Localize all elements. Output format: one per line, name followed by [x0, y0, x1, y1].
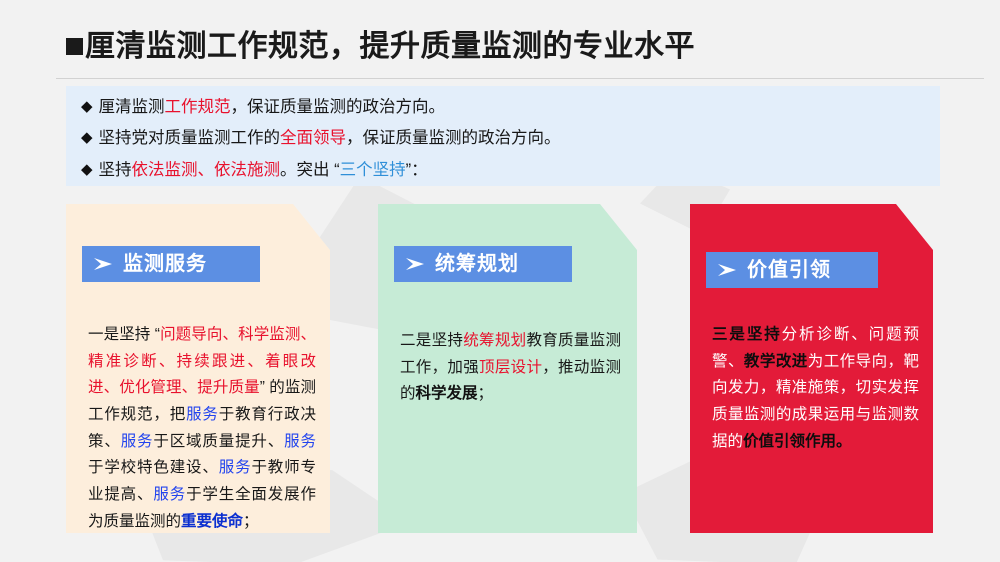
bullet-3-seg-2: 依法监测、依法施测 — [132, 161, 281, 179]
c1-t5: 于学校特色建设、 — [88, 459, 219, 476]
c1-b5: 服务 — [153, 486, 186, 503]
bullet-1-seg-1: 厘清监测 — [99, 98, 165, 116]
title-square-bullet-icon — [66, 38, 83, 55]
card-inner: 监测服务 一是坚持 “问题导向、科学监测、精准诊断、持续跟进、着眼改进、优化管理… — [66, 204, 330, 533]
card-2-header-chip: 统筹规划 — [394, 246, 572, 282]
card-3-header-label: 价值引领 — [747, 260, 831, 280]
card-1-header-chip: 监测服务 — [82, 246, 260, 282]
card-inner: 价值引领 三是坚持分析诊断、问题预警、教学改进为工作导向，靶向发力，精准施策，切… — [690, 204, 933, 533]
chevron-right-icon — [92, 256, 114, 272]
card-inner: 统筹规划 二是坚持统筹规划教育质量监测工作，加强顶层设计，推动监测的科学发展； — [378, 204, 637, 533]
card-3-header-chip: 价值引领 — [706, 252, 878, 288]
page-title-text: 厘清监测工作规范，提升质量监测的专业水平 — [85, 30, 695, 63]
c1-t1: 一是坚持 “ — [88, 326, 160, 343]
c3-k2: 教学改进 — [744, 353, 808, 370]
bullet-3-seg-1: 坚持 — [99, 161, 132, 179]
c1-t4: 于区域质量提升、 — [153, 433, 284, 450]
c2-t4: ； — [478, 385, 494, 402]
bullet-item-2: ◆坚持党对质量监测工作的全面领导，保证质量监测的政治方向。 — [81, 130, 561, 147]
content-card-value-guidance: 价值引领 三是坚持分析诊断、问题预警、教学改进为工作导向，靶向发力，精准施策，切… — [690, 204, 933, 533]
c2-r1: 统筹规划 — [463, 332, 526, 349]
bullet-2-seg-3: ，保证质量监测的政治方向。 — [346, 129, 561, 147]
bullet-3-seg-5: ”： — [406, 161, 428, 179]
diamond-bullet-icon: ◆ — [81, 99, 93, 114]
title-divider — [56, 78, 984, 79]
c2-r2: 顶层设计 — [479, 359, 542, 376]
bullet-1-seg-3: ，保证质量监测的政治方向。 — [231, 98, 446, 116]
bullet-2-seg-1: 坚持党对质量监测工作的 — [99, 129, 281, 147]
bullet-2-seg-2: 全面领导 — [280, 129, 346, 147]
card-1-body: 一是坚持 “问题导向、科学监测、精准诊断、持续跟进、着眼改进、优化管理、提升质量… — [88, 322, 316, 535]
chevron-right-icon — [404, 256, 426, 272]
page-title: 厘清监测工作规范，提升质量监测的专业水平 — [66, 26, 695, 68]
diamond-bullet-icon: ◆ — [81, 130, 93, 145]
content-card-overall-planning: 统筹规划 二是坚持统筹规划教育质量监测工作，加强顶层设计，推动监测的科学发展； — [378, 204, 637, 533]
c1-b2: 服务 — [121, 433, 154, 450]
diamond-bullet-icon: ◆ — [81, 162, 93, 177]
bullet-item-1: ◆厘清监测工作规范，保证质量监测的政治方向。 — [81, 99, 445, 116]
bullet-3-seg-4: 三个坚持 — [340, 161, 406, 179]
c1-t8: ； — [243, 513, 259, 530]
bullet-1-seg-2: 工作规范 — [165, 98, 231, 116]
bullet-3-seg-3: 。突出 “ — [280, 161, 340, 179]
c2-t1: 二是坚持 — [400, 332, 463, 349]
c3-k1: 三是坚持 — [712, 326, 782, 343]
c1-b1: 服务 — [186, 406, 219, 423]
chevron-right-icon — [716, 262, 738, 278]
c3-k3: 价值引领作用。 — [743, 433, 852, 450]
card-3-body: 三是坚持分析诊断、问题预警、教学改进为工作导向，靶向发力，精准施策，切实发挥质量… — [712, 322, 919, 455]
content-card-monitoring-service: 监测服务 一是坚持 “问题导向、科学监测、精准诊断、持续跟进、着眼改进、优化管理… — [66, 204, 330, 533]
c1-b4: 服务 — [219, 459, 252, 476]
card-2-header-label: 统筹规划 — [435, 254, 519, 274]
c1-hb1: 重要使命 — [181, 513, 243, 530]
bullet-panel: ◆厘清监测工作规范，保证质量监测的政治方向。 ◆坚持党对质量监测工作的全面领导，… — [66, 86, 940, 186]
bullet-item-3: ◆坚持依法监测、依法施测。突出 “三个坚持”： — [81, 162, 428, 179]
card-1-header-label: 监测服务 — [123, 254, 207, 274]
c2-k1: 科学发展 — [416, 385, 478, 402]
c1-b3: 服务 — [284, 433, 316, 450]
card-2-body: 二是坚持统筹规划教育质量监测工作，加强顶层设计，推动监测的科学发展； — [400, 328, 621, 408]
slide-root: 厘清监测工作规范，提升质量监测的专业水平 ◆厘清监测工作规范，保证质量监测的政治… — [0, 0, 1000, 562]
